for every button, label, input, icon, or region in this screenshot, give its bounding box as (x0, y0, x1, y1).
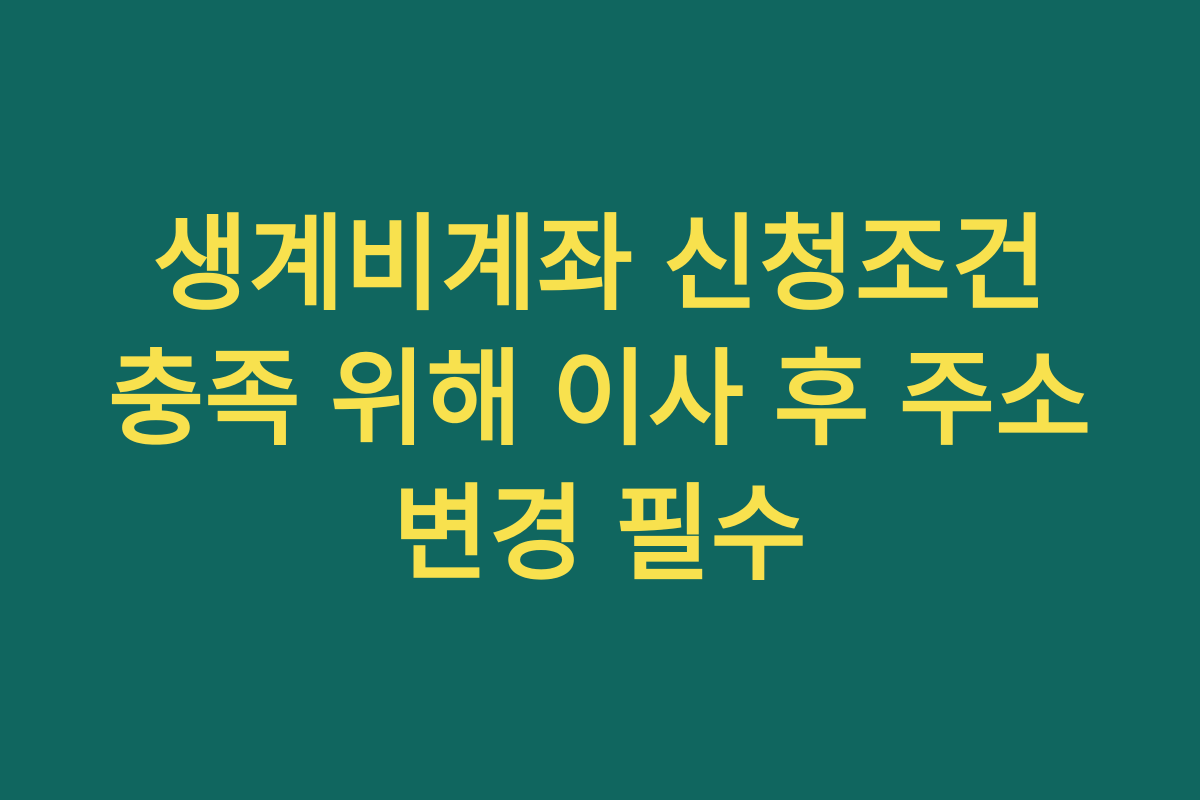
title-card: 생계비계좌 신청조건 충족 위해 이사 후 주소 변경 필수 (0, 0, 1200, 800)
headline-block: 생계비계좌 신청조건 충족 위해 이사 후 주소 변경 필수 (95, 198, 1105, 603)
headline-title: 생계비계좌 신청조건 충족 위해 이사 후 주소 변경 필수 (95, 198, 1105, 603)
